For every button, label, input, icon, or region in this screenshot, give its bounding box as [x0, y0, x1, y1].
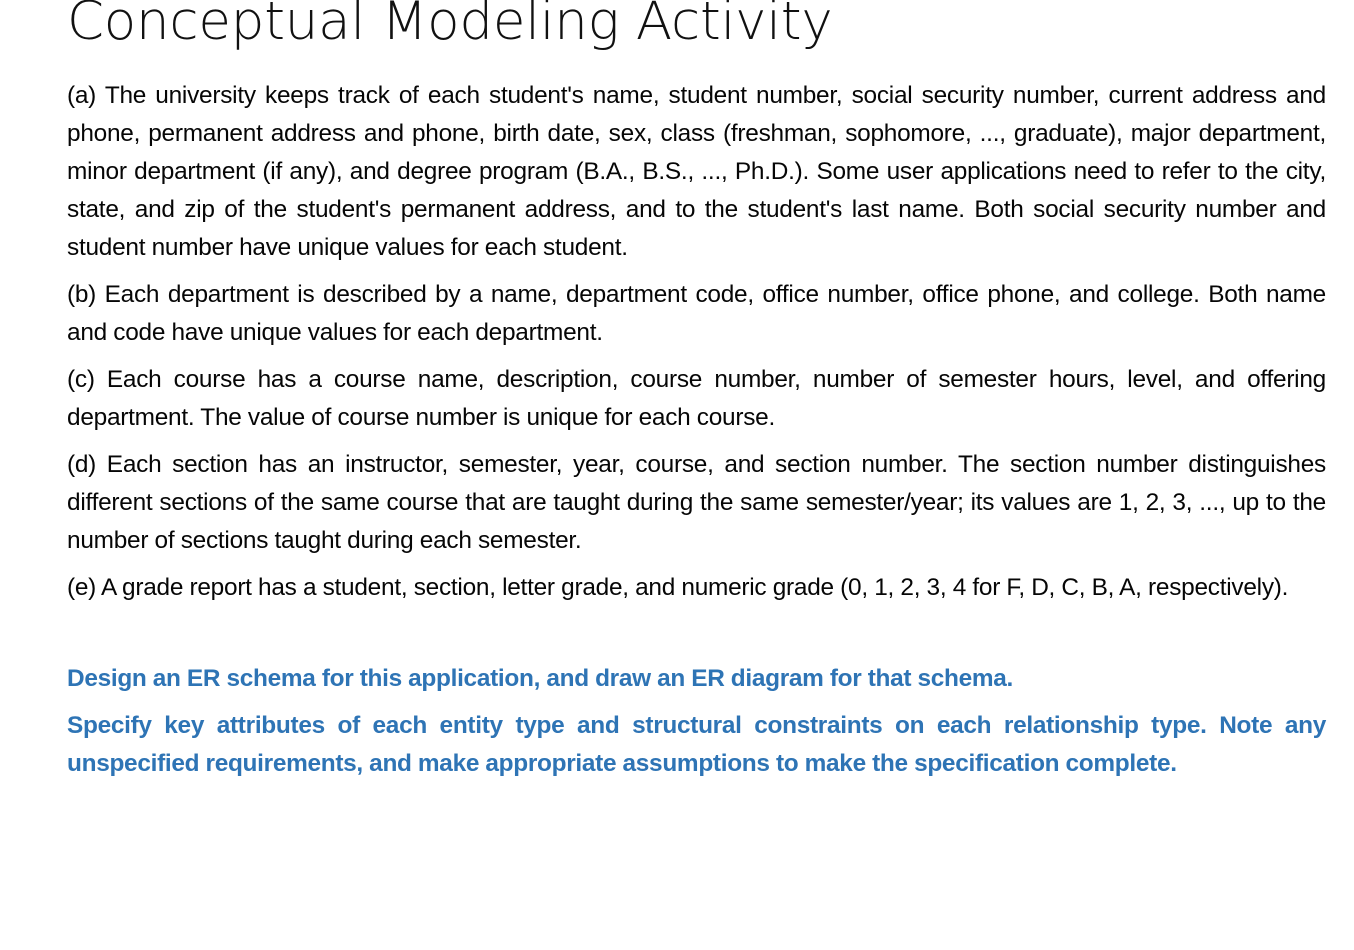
page-title: Conceptual Modeling Activity — [67, 0, 1326, 49]
section-spacer — [67, 616, 1326, 660]
requirement-paragraph-a: (a) The university keeps track of each s… — [67, 77, 1326, 267]
slide-page: Conceptual Modeling Activity (a) The uni… — [0, 0, 1354, 950]
instruction-line-design-schema: Design an ER schema for this application… — [67, 660, 1326, 698]
instruction-line-key-attributes: Specify key attributes of each entity ty… — [67, 707, 1326, 783]
requirement-paragraph-b: (b) Each department is described by a na… — [67, 276, 1326, 352]
instructions-section: Design an ER schema for this application… — [67, 660, 1326, 783]
requirements-section: (a) The university keeps track of each s… — [67, 77, 1326, 783]
requirement-paragraph-d: (d) Each section has an instructor, seme… — [67, 446, 1326, 560]
requirement-paragraph-c: (c) Each course has a course name, descr… — [67, 361, 1326, 437]
requirement-paragraph-e: (e) A grade report has a student, sectio… — [67, 569, 1326, 607]
